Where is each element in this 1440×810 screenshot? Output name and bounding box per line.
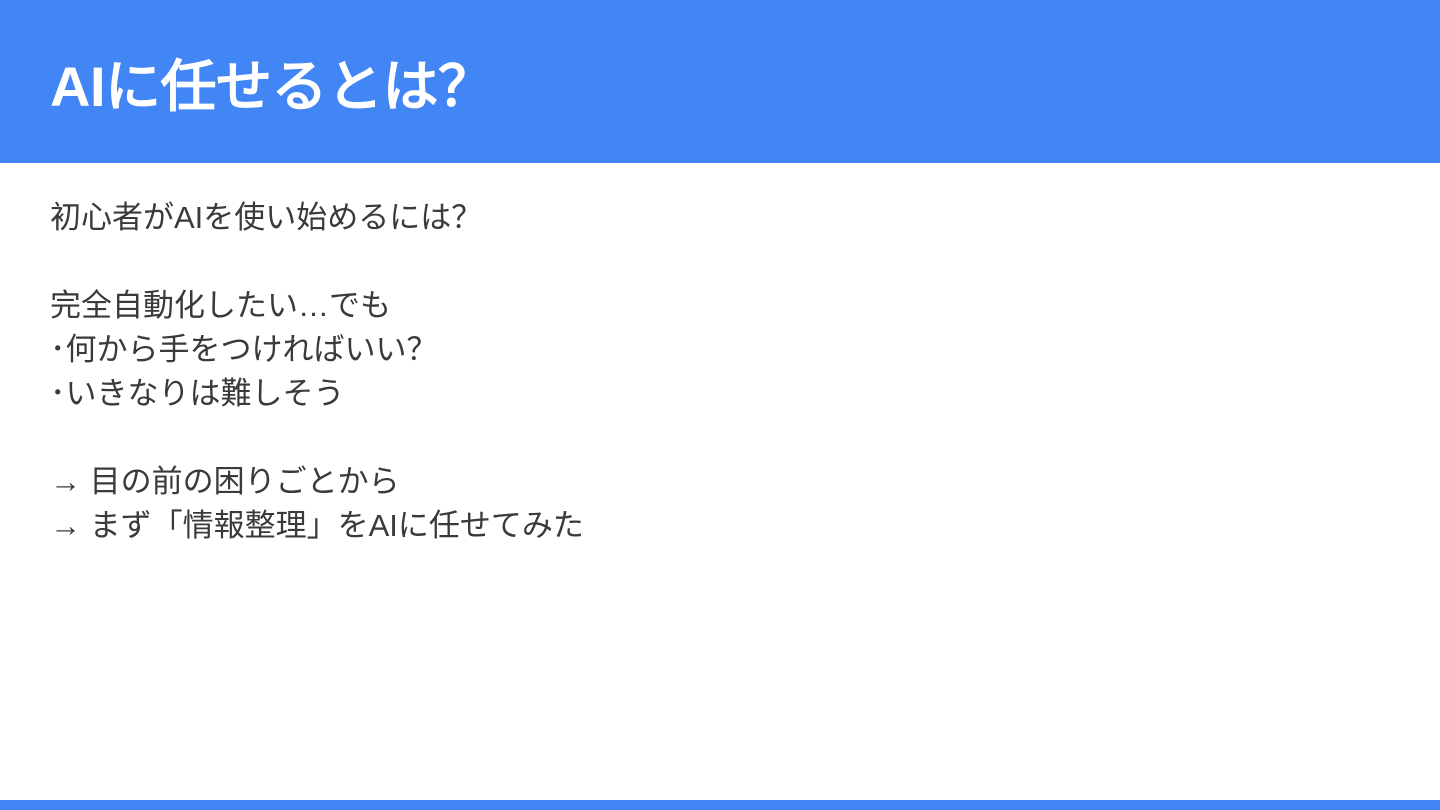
body-line-1: 初心者がAIを使い始めるには？: [50, 196, 1390, 240]
body-line-5-arrow: → 目の前の困りごとから: [50, 460, 1390, 504]
page-title: AIに任せるとは？: [50, 56, 494, 118]
slide-header-bar: AIに任せるとは？: [0, 0, 1440, 163]
body-line-spacer-2: [50, 416, 1390, 460]
slide-canvas: AIに任せるとは？ 初心者がAIを使い始めるには？ 完全自動化したい…でも ･何…: [0, 0, 1440, 810]
body-line-2: 完全自動化したい…でも: [50, 284, 1390, 328]
body-line-spacer-1: [50, 240, 1390, 284]
slide-body: 初心者がAIを使い始めるには？ 完全自動化したい…でも ･何から手をつければいい…: [50, 196, 1390, 548]
slide-footer-bar: [0, 800, 1440, 810]
body-line-3-bullet: ･何から手をつければいい？: [50, 328, 1390, 372]
body-line-4-bullet: ･いきなりは難しそう: [50, 372, 1390, 416]
body-line-6-arrow: → まず「情報整理」をAIに任せてみた: [50, 504, 1390, 548]
